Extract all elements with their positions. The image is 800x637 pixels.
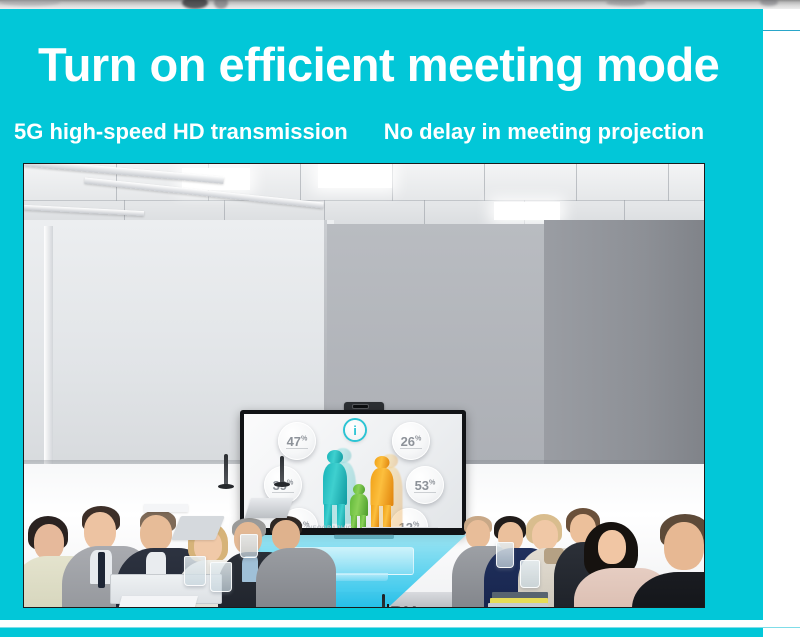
person-left-6 [260, 516, 334, 607]
previous-image-sliver [0, 0, 800, 9]
microphone [280, 456, 284, 484]
rx-leader-line [387, 604, 389, 607]
microphone-base [218, 484, 234, 489]
rx-label: RX [390, 605, 416, 607]
cyan-bottom-strip [0, 628, 763, 637]
banner-root: Turn on efficient meeting mode 5G high-s… [0, 0, 800, 637]
door-frame [44, 226, 53, 476]
ceiling-light [494, 202, 560, 220]
subheading-transmission: 5G high-speed HD transmission [14, 118, 348, 146]
person-right-6 [640, 514, 704, 607]
water-glass [184, 556, 206, 586]
water-glass [240, 534, 258, 558]
water-glass [210, 562, 232, 592]
notebook-stack [488, 603, 548, 607]
laptop-far [245, 498, 293, 518]
page-title: Turn on efficient meeting mode [38, 40, 778, 90]
subheading-row: 5G high-speed HD transmissionNo delay in… [14, 118, 800, 146]
paper-sheet [144, 504, 188, 512]
paper-sheet [118, 596, 198, 607]
bubble-47: 47% [278, 422, 316, 460]
bubble-53: 53% [406, 466, 444, 504]
infographic-rule-lines [362, 527, 438, 528]
info-icon: i [345, 420, 365, 440]
microphone-base [274, 482, 290, 487]
microphone [224, 454, 228, 486]
ceiling-light [318, 164, 392, 188]
water-glass [496, 542, 514, 568]
rx-antenna [382, 594, 385, 607]
conference-room-photo: 47% 39% 08% 26% [23, 163, 705, 608]
figure-orange [368, 456, 396, 528]
subheading-projection: No delay in meeting projection [384, 118, 704, 146]
figure-green [348, 484, 370, 528]
right-divider-rule [763, 30, 800, 31]
water-glass [520, 560, 540, 588]
